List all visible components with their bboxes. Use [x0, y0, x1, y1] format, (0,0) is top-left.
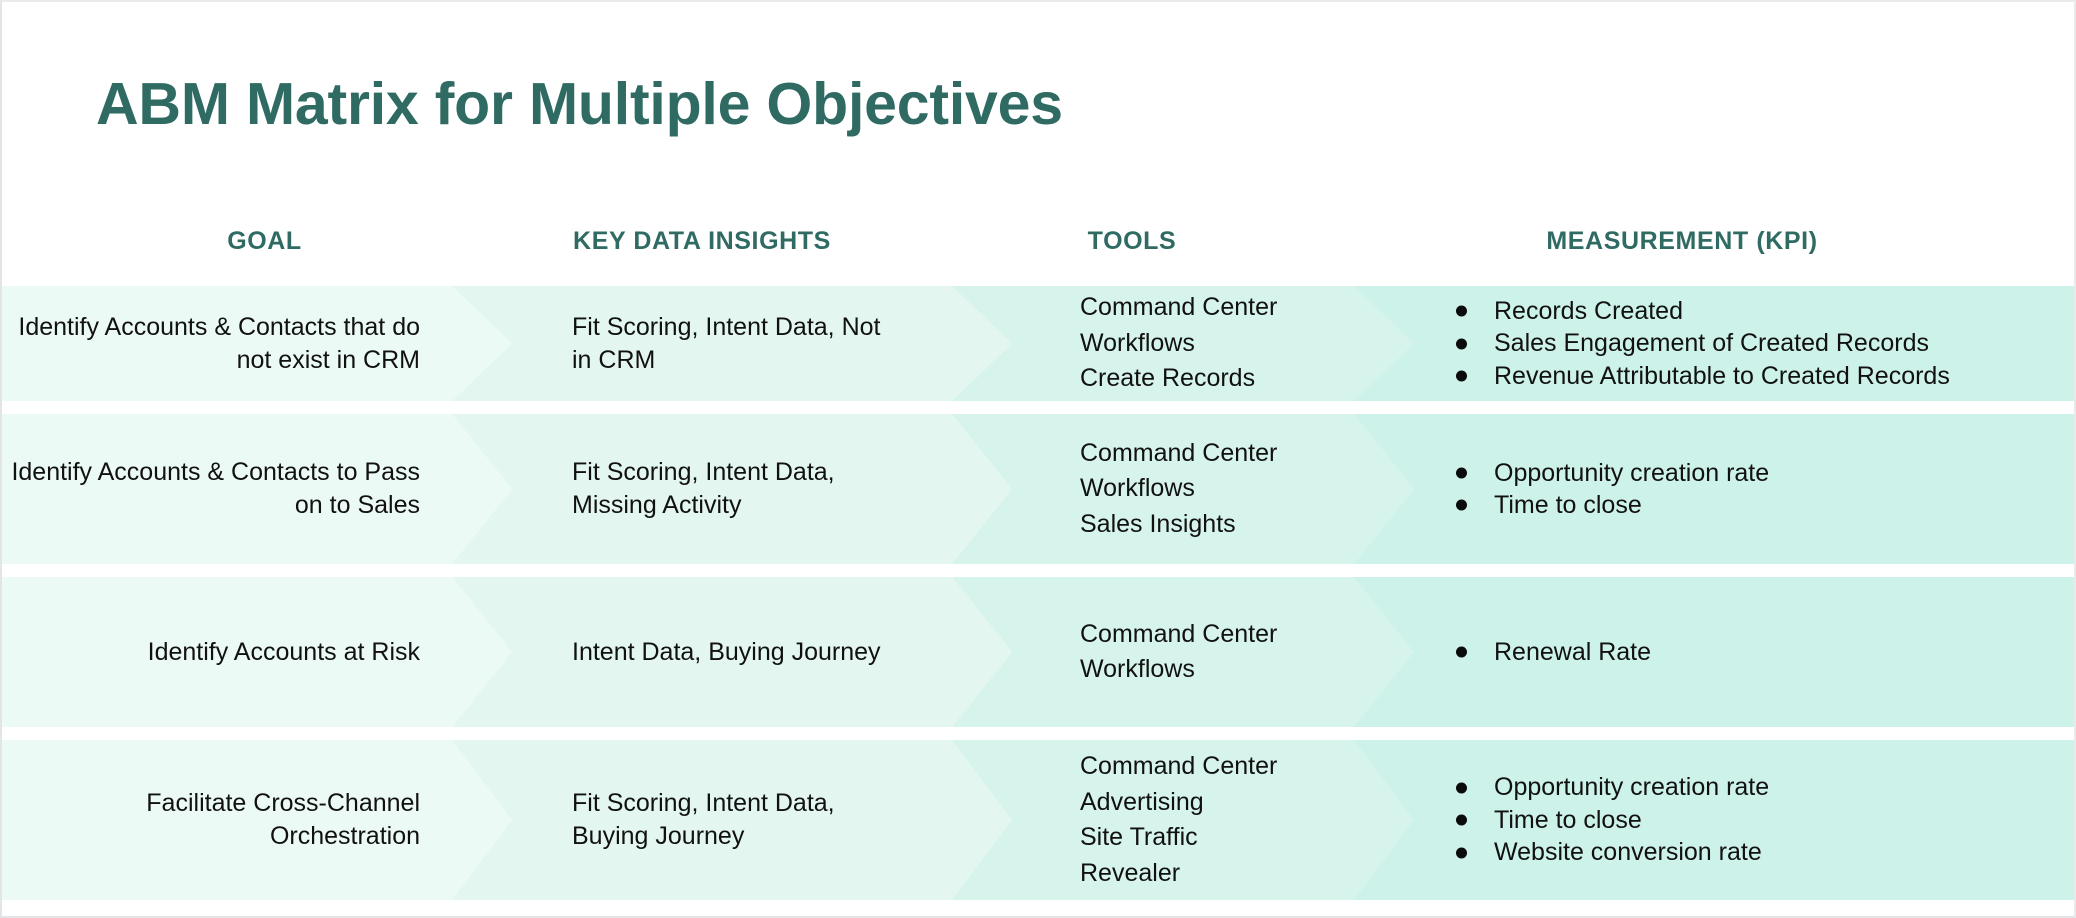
- column-header-row: GOAL KEY DATA INSIGHTS TOOLS MEASUREMENT…: [2, 227, 2076, 277]
- goal-text: Identify Accounts & Contacts to Pass on …: [2, 456, 420, 522]
- cell-goal: Identify Accounts at Risk: [2, 577, 512, 727]
- kpi-list-item: Records Created: [1450, 295, 1950, 328]
- bullet-icon: [1456, 847, 1467, 858]
- abm-matrix-infographic: ABM Matrix for Multiple Objectives GOAL …: [0, 0, 2076, 918]
- tool-item: Advertising: [1080, 785, 1277, 821]
- kpi-label: Time to close: [1494, 806, 1642, 834]
- kpi-list-item: Renewal Rate: [1450, 636, 1651, 669]
- column-header-tools: TOOLS: [927, 227, 1337, 256]
- tool-item: Command Center: [1080, 290, 1277, 326]
- matrix-row: Opportunity creation rateTime to closeWe…: [2, 740, 2076, 900]
- tool-item: Revealer: [1080, 856, 1277, 892]
- kpi-label: Opportunity creation rate: [1494, 459, 1769, 487]
- tool-item: Command Center: [1080, 436, 1277, 472]
- matrix-row: Renewal RateCommand CenterWorkflowsInten…: [2, 577, 2076, 727]
- kpi-label: Time to close: [1494, 491, 1642, 519]
- bullet-icon: [1456, 338, 1467, 349]
- matrix-row: Opportunity creation rateTime to closeCo…: [2, 414, 2076, 564]
- bullet-icon: [1456, 467, 1467, 478]
- tools-list: Command CenterAdvertisingSite TrafficRev…: [1080, 749, 1277, 891]
- bullet-icon: [1456, 782, 1467, 793]
- tool-item: Workflows: [1080, 326, 1277, 362]
- kpi-list: Renewal Rate: [1450, 636, 1651, 669]
- cell-goal: Identify Accounts & Contacts to Pass on …: [2, 414, 512, 564]
- kpi-list-item: Sales Engagement of Created Records: [1450, 327, 1950, 360]
- kpi-label: Records Created: [1494, 297, 1683, 325]
- tool-item: Command Center: [1080, 749, 1277, 785]
- goal-text: Identify Accounts at Risk: [148, 636, 420, 669]
- bullet-icon: [1456, 371, 1467, 382]
- kpi-label: Website conversion rate: [1494, 838, 1762, 866]
- bullet-icon: [1456, 306, 1467, 317]
- key-data-insights-text: Fit Scoring, Intent Data, Missing Activi…: [572, 456, 902, 522]
- kpi-label: Sales Engagement of Created Records: [1494, 329, 1929, 357]
- kpi-label: Revenue Attributable to Created Records: [1494, 362, 1950, 390]
- matrix-row: Records CreatedSales Engagement of Creat…: [2, 286, 2076, 401]
- kpi-list: Opportunity creation rateTime to close: [1450, 457, 1769, 522]
- kpi-list: Opportunity creation rateTime to closeWe…: [1450, 771, 1769, 869]
- tool-item: Command Center: [1080, 617, 1277, 653]
- kpi-list: Records CreatedSales Engagement of Creat…: [1450, 295, 1950, 393]
- kpi-list-item: Time to close: [1450, 489, 1769, 522]
- goal-text: Facilitate Cross-Channel Orchestration: [2, 787, 420, 853]
- page-title: ABM Matrix for Multiple Objectives: [96, 70, 1063, 138]
- key-data-insights-text: Intent Data, Buying Journey: [572, 636, 881, 669]
- matrix-body: Records CreatedSales Engagement of Creat…: [2, 286, 2076, 913]
- kpi-list-item: Website conversion rate: [1450, 836, 1769, 869]
- bullet-icon: [1456, 500, 1467, 511]
- column-header-measurement-kpi: MEASUREMENT (KPI): [1342, 227, 2022, 256]
- key-data-insights-text: Fit Scoring, Intent Data, Not in CRM: [572, 311, 902, 377]
- tool-item: Sales Insights: [1080, 507, 1277, 543]
- key-data-insights-text: Fit Scoring, Intent Data, Buying Journey: [572, 787, 902, 853]
- tool-item: Create Records: [1080, 361, 1277, 397]
- kpi-list-item: Time to close: [1450, 804, 1769, 837]
- tools-list: Command CenterWorkflowsSales Insights: [1080, 436, 1277, 543]
- tools-list: Command CenterWorkflowsCreate Records: [1080, 290, 1277, 397]
- cell-goal: Facilitate Cross-Channel Orchestration: [2, 740, 512, 900]
- tool-item: Workflows: [1080, 471, 1277, 507]
- kpi-list-item: Opportunity creation rate: [1450, 771, 1769, 804]
- bullet-icon: [1456, 647, 1467, 658]
- column-header-key-data-insights: KEY DATA INSIGHTS: [482, 227, 922, 256]
- tools-list: Command CenterWorkflows: [1080, 617, 1277, 688]
- kpi-list-item: Revenue Attributable to Created Records: [1450, 360, 1950, 393]
- tool-item: Workflows: [1080, 652, 1277, 688]
- kpi-label: Renewal Rate: [1494, 638, 1651, 666]
- column-header-goal: GOAL: [52, 227, 477, 256]
- bullet-icon: [1456, 815, 1467, 826]
- cell-goal: Identify Accounts & Contacts that do not…: [2, 286, 512, 401]
- kpi-label: Opportunity creation rate: [1494, 773, 1769, 801]
- goal-text: Identify Accounts & Contacts that do not…: [2, 311, 420, 377]
- tool-item: Site Traffic: [1080, 820, 1277, 856]
- kpi-list-item: Opportunity creation rate: [1450, 457, 1769, 490]
